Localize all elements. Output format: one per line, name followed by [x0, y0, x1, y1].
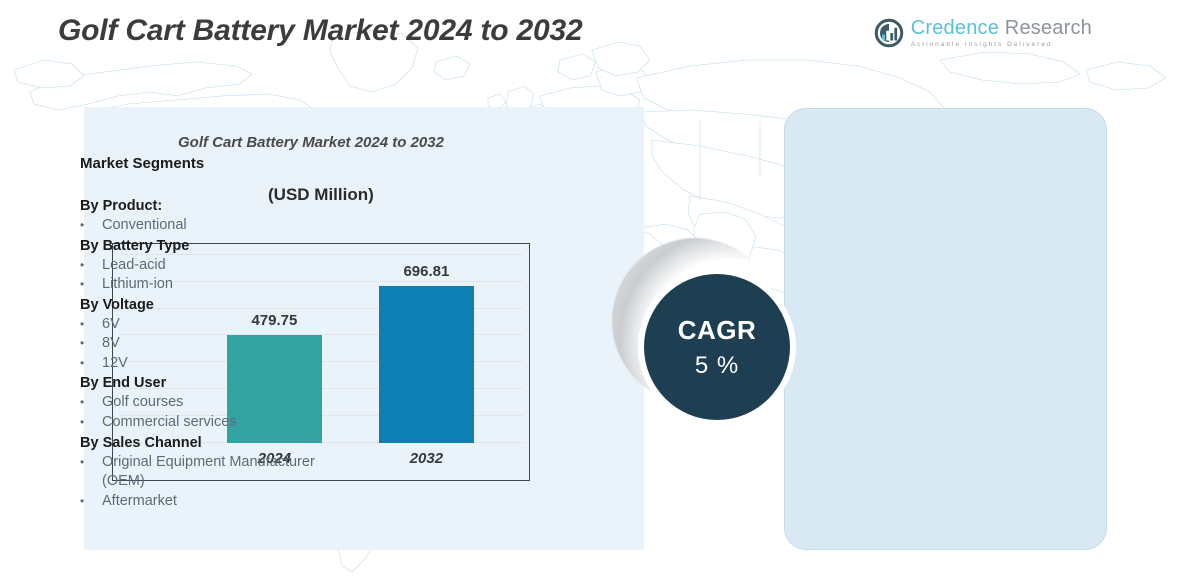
bullet-icon: • [80, 413, 102, 433]
segment-item-label: Lead-acid [102, 256, 320, 276]
cagr-label: CAGR [678, 315, 757, 346]
segment-item-label: 12V [102, 354, 320, 374]
bar-2032: 696.812032 [379, 286, 474, 443]
cagr-badge: CAGR 5 % [612, 238, 808, 434]
bar-value-label: 696.81 [379, 263, 474, 280]
bar-category-label: 2032 [379, 443, 474, 467]
bullet-icon: • [80, 334, 102, 354]
market-segments-groups: By Product:•ConventionalBy Battery Type•… [80, 196, 320, 511]
segment-item-label: Commercial services [102, 413, 320, 433]
segment-item: •Golf courses [80, 393, 320, 413]
segment-item-label: Golf courses [102, 393, 320, 413]
segment-item-label: 6V [102, 315, 320, 335]
brand-logo: Credence Research Actionable Insights De… [874, 18, 1092, 49]
bullet-icon: • [80, 256, 102, 276]
segment-item: •Lithium-ion [80, 275, 320, 295]
segment-item: •Commercial services [80, 413, 320, 433]
segment-group: By Voltage•6V•8V•12V [80, 295, 320, 374]
segment-item-label: Lithium-ion [102, 275, 320, 295]
segment-group: By Battery Type•Lead-acid•Lithium-ion [80, 236, 320, 295]
segment-group: By Sales Channel•Original Equipment Manu… [80, 433, 320, 512]
bullet-icon: • [80, 453, 102, 492]
bullet-icon: • [80, 275, 102, 295]
segment-item-label: 8V [102, 334, 320, 354]
segment-group-header: By Battery Type [80, 236, 320, 256]
segment-item: •Conventional [80, 216, 320, 236]
segment-group-header: By Product: [80, 196, 320, 216]
bar-rect [379, 286, 474, 443]
bullet-icon: • [80, 216, 102, 236]
segment-group: By Product:•Conventional [80, 196, 320, 236]
chart-title: Golf Cart Battery Market 2024 to 2032 [178, 134, 444, 151]
segment-group-header: By End User [80, 373, 320, 393]
segment-item: •6V [80, 315, 320, 335]
segment-item: •Lead-acid [80, 256, 320, 276]
bullet-icon: • [80, 492, 102, 512]
segment-item: •12V [80, 354, 320, 374]
logo-word-secondary: Research [999, 17, 1092, 39]
bullet-icon: • [80, 393, 102, 413]
page-title: Golf Cart Battery Market 2024 to 2032 [58, 14, 583, 48]
segment-group-header: By Voltage [80, 295, 320, 315]
cagr-circle: CAGR 5 % [644, 274, 790, 420]
bar-chart-circle-icon [874, 18, 904, 48]
bullet-icon: • [80, 354, 102, 374]
segment-item: •8V [80, 334, 320, 354]
logo-tagline: Actionable Insights Delivered [911, 42, 1092, 49]
market-segments-content: Market Segments By Product:•Conventional… [80, 155, 320, 511]
segment-item: •Original Equipment Manufacturer (OEM) [80, 453, 320, 492]
segment-item-label: Conventional [102, 216, 320, 236]
segment-group: By End User•Golf courses•Commercial serv… [80, 373, 320, 432]
market-segments-panel [784, 108, 1107, 550]
segment-group-header: By Sales Channel [80, 433, 320, 453]
bullet-icon: • [80, 315, 102, 335]
market-segments-title: Market Segments [80, 155, 320, 172]
segment-item-label: Aftermarket [102, 492, 320, 512]
logo-word-primary: Credence [911, 17, 999, 39]
segment-item-label: Original Equipment Manufacturer (OEM) [102, 453, 320, 492]
segment-item: •Aftermarket [80, 492, 320, 512]
cagr-value: 5 % [695, 352, 739, 380]
